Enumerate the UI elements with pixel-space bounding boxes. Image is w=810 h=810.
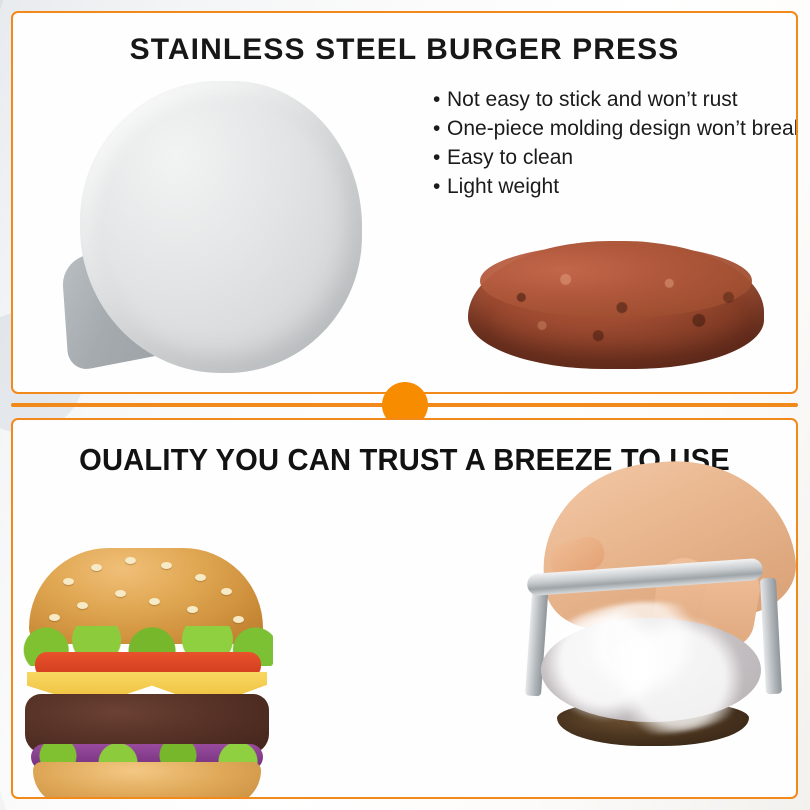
- sesame-seed: [125, 557, 136, 564]
- sesame-seed: [115, 590, 126, 597]
- cheeseburger-image: [21, 548, 273, 793]
- bun-bottom: [33, 762, 261, 799]
- sesame-seed: [63, 578, 74, 585]
- feature-item: One-piece molding design won’t break: [433, 114, 798, 143]
- sesame-seed: [195, 574, 206, 581]
- press-in-use-image: [505, 462, 798, 794]
- top-panel: STAINLESS STEEL BURGER PRESS Not easy to…: [11, 11, 798, 394]
- sesame-seed: [161, 562, 172, 569]
- feature-item: Not easy to stick and won’t rust: [433, 85, 798, 114]
- page-title: STAINLESS STEEL BURGER PRESS: [13, 33, 796, 67]
- press-disc: [80, 81, 362, 373]
- feature-item: Easy to clean: [433, 143, 798, 172]
- steam: [533, 602, 769, 734]
- sesame-seed: [49, 614, 60, 621]
- sesame-seed: [77, 602, 88, 609]
- sesame-seed: [91, 564, 102, 571]
- feature-list: Not easy to stick and won’t rust One-pie…: [433, 85, 798, 201]
- sesame-seed: [233, 616, 244, 623]
- sesame-seed: [149, 598, 160, 605]
- bottom-panel: OUALITY YOU CAN TRUST A BREEZE TO USE: [11, 418, 798, 799]
- feature-item: Light weight: [433, 172, 798, 201]
- sesame-seed: [187, 606, 198, 613]
- product-infographic: STAINLESS STEEL BURGER PRESS Not easy to…: [0, 0, 810, 810]
- sesame-seed: [221, 588, 232, 595]
- press-product-image: [58, 79, 368, 379]
- cooked-patty-image: [468, 241, 764, 369]
